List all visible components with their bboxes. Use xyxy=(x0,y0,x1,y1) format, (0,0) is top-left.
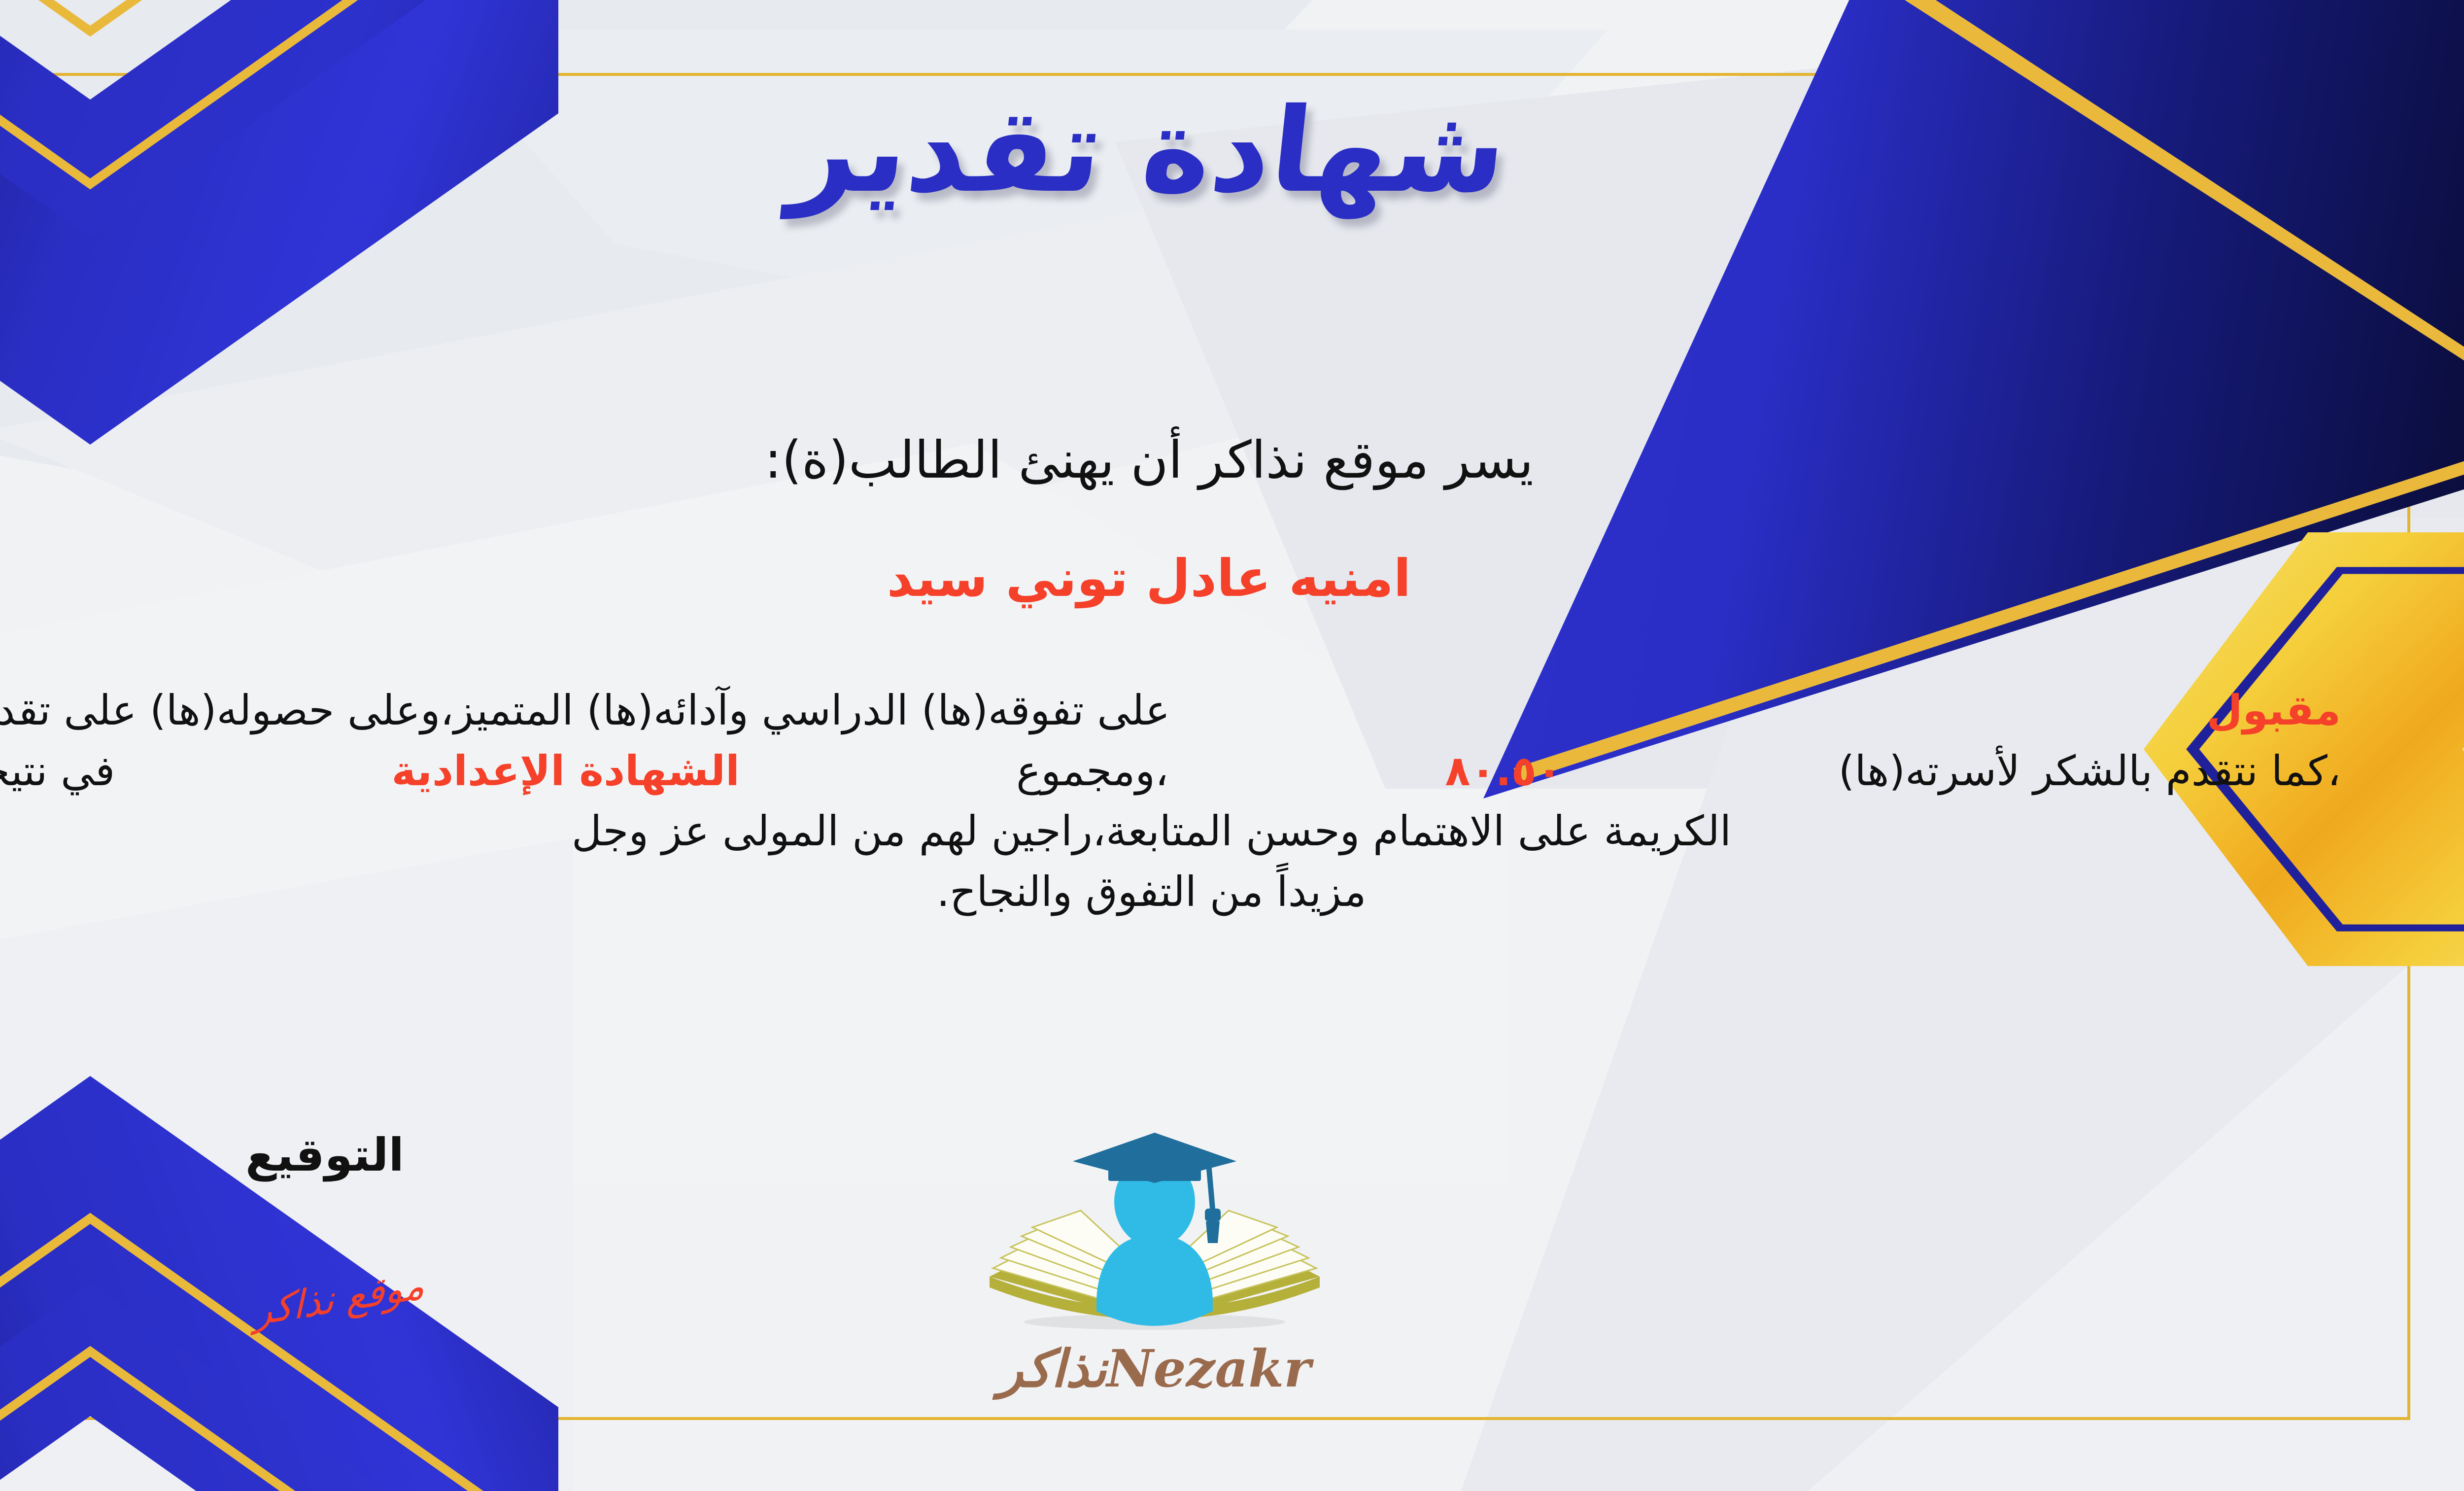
logo-name-latin: Nezakr xyxy=(1106,1338,1311,1399)
body-line-2-suffix: ،كما نتقدم بالشكر لأسرته(ها) xyxy=(1839,741,2341,801)
body-line-2-middle: ،ومجموع xyxy=(1016,741,1168,801)
logo-name-arabic: نذاكر xyxy=(998,1338,1106,1399)
body-line-2-prefix: في نتيجة xyxy=(0,741,115,801)
signature-script: موقع نذاكر xyxy=(253,1263,424,1335)
certificate-body-text: مقبول على تفوقه(ها) الدراسي وآدائه(ها) ا… xyxy=(0,680,2341,922)
signature-label: التوقيع xyxy=(245,1129,404,1181)
certificate-title: شهادة تقدير xyxy=(0,83,2464,218)
student-name: امنيه عادل توني سيد xyxy=(0,548,2464,608)
certificate-content: شهادة تقدير يسر موقع نذاكر أن يهنئ الطال… xyxy=(0,0,2464,1491)
body-line-2: ،كما نتقدم بالشكر لأسرته(ها) ٨٠.٥٠ ،ومجم… xyxy=(0,741,2341,801)
grade-value: مقبول xyxy=(2207,680,2341,741)
site-logo: Nezakrنذاكر xyxy=(962,1129,1347,1424)
body-line-3: الكريمة على الاهتمام وحسن المتابعة،راجين… xyxy=(0,801,2341,862)
body-line-4: مزيداً من التفوق والنجاح. xyxy=(0,862,2341,922)
logo-wordmark: Nezakrنذاكر xyxy=(962,1338,1347,1399)
body-line-1-text: على تفوقه(ها) الدراسي وآدائه(ها) المتميز… xyxy=(0,680,1170,741)
total-score: ٨٠.٥٠ xyxy=(1445,741,1562,801)
certificate-page: شهادة تقدير يسر موقع نذاكر أن يهنئ الطال… xyxy=(0,0,2464,1491)
exam-name: الشهادة الإعدادية xyxy=(391,741,739,801)
congratulation-line: يسر موقع نذاكر أن يهنئ الطالب(ة): xyxy=(0,430,2464,490)
body-line-1: مقبول على تفوقه(ها) الدراسي وآدائه(ها) ا… xyxy=(0,680,2341,741)
